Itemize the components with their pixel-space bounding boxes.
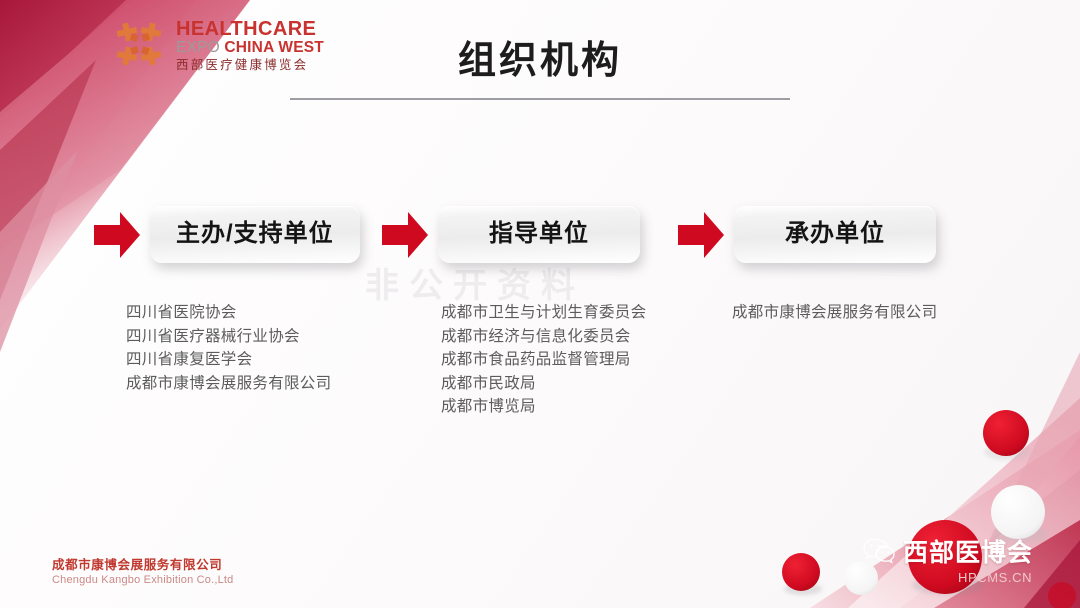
org-list: 四川省医院协会 四川省医疗器械行业协会 四川省康复医学会 成都市康博会展服务有限… (92, 301, 360, 395)
category-label: 主办/支持单位 (176, 222, 334, 246)
list-item: 四川省医疗器械行业协会 (126, 325, 360, 349)
page-title: 组织机构 (290, 40, 790, 84)
category-pill[interactable]: 承办单位 (734, 206, 936, 263)
arrow-right-icon (380, 209, 430, 261)
expo-logo-icon (112, 16, 168, 72)
column-header: 承办单位 (676, 206, 937, 263)
category-pill[interactable]: 主办/支持单位 (150, 206, 360, 263)
org-list: 成都市卫生与计划生育委员会 成都市经济与信息化委员会 成都市食品药品监督管理局 … (380, 301, 646, 419)
logo-expo-word: EXPO (176, 39, 220, 56)
org-column-organizers: 主办/支持单位 四川省医院协会 四川省医疗器械行业协会 四川省康复医学会 成都市… (92, 206, 360, 395)
brand-website: HPCMS.CN (958, 570, 1032, 585)
list-item: 成都市博览局 (441, 395, 646, 419)
list-item: 成都市民政局 (441, 372, 646, 396)
arrow-right-icon (92, 209, 142, 261)
title-underline (290, 98, 790, 100)
list-item: 成都市食品药品监督管理局 (441, 348, 646, 372)
category-label: 指导单位 (464, 222, 614, 246)
page-title-block: 组织机构 (290, 40, 790, 100)
column-header: 指导单位 (380, 206, 646, 263)
list-item: 成都市康博会展服务有限公司 (732, 301, 937, 325)
list-item: 四川省康复医学会 (126, 348, 360, 372)
list-item: 成都市康博会展服务有限公司 (126, 372, 360, 396)
column-header: 主办/支持单位 (92, 206, 360, 263)
arrow-right-icon (676, 209, 726, 261)
org-column-host: 承办单位 成都市康博会展服务有限公司 (676, 206, 937, 325)
category-pill[interactable]: 指导单位 (438, 206, 640, 263)
brand-name: 西部医博会 (903, 533, 1033, 569)
category-label: 承办单位 (760, 222, 910, 246)
list-item: 四川省医院协会 (126, 301, 360, 325)
list-item: 成都市经济与信息化委员会 (441, 325, 646, 349)
footer-company-block: 成都市康博会展服务有限公司 Chengdu Kangbo Exhibition … (52, 558, 234, 587)
wechat-brand-block: 西部医博会 (862, 533, 1033, 569)
org-list: 成都市康博会展服务有限公司 (676, 301, 937, 325)
wechat-icon (862, 537, 896, 565)
slide-canvas: HEALTHCARE EXPO CHINA WEST 西部医疗健康博览会 组织机… (0, 0, 1080, 608)
footer-company-en: Chengdu Kangbo Exhibition Co.,Ltd (52, 574, 234, 587)
footer-company-cn: 成都市康博会展服务有限公司 (52, 558, 234, 573)
org-column-guidance: 指导单位 成都市卫生与计划生育委员会 成都市经济与信息化委员会 成都市食品药品监… (380, 206, 646, 419)
logo-line-healthcare: HEALTHCARE (176, 19, 324, 39)
list-item: 成都市卫生与计划生育委员会 (441, 301, 646, 325)
